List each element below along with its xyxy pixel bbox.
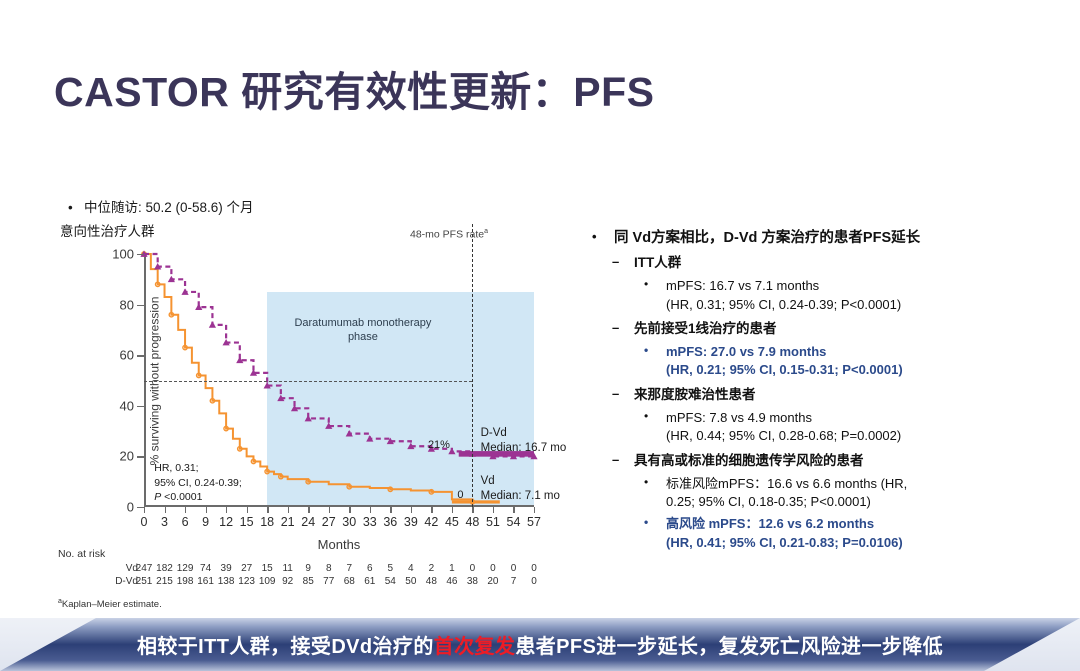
y-axis-tick	[137, 456, 144, 457]
risk-table-cell: 161	[197, 576, 214, 587]
subgroup-result: •高风险 mPFS：12.6 vs 6.2 months(HR, 0.41; 9…	[588, 515, 1076, 552]
x-axis-tick	[165, 507, 166, 513]
bottom-banner: 相较于ITT人群，接受DVd治疗的首次复发患者PFS进一步延长，复发死亡风险进一…	[0, 618, 1080, 671]
risk-table-cell: 0	[490, 563, 496, 574]
risk-table-cell: 74	[200, 563, 211, 574]
bullet-marker-icon: •	[644, 342, 648, 359]
hr-p-value: <0.0001	[161, 491, 202, 503]
bullet-marker-icon: •	[592, 228, 597, 246]
monotherapy-label-line1: Daratumumab monotherapy	[294, 317, 431, 329]
x-axis-tick	[370, 507, 371, 513]
bullet-marker-icon: •	[644, 474, 648, 491]
result-line2: (HR, 0.21; 95% CI, 0.15-0.31; P<0.0001)	[666, 362, 903, 377]
population-label: 意向性治疗人群	[60, 220, 155, 240]
result-line2: (HR, 0.44; 95% CI, 0.28-0.68; P=0.0002)	[666, 428, 901, 443]
x-axis-tick-label: 36	[383, 515, 397, 529]
risk-table-cell: 251	[136, 576, 153, 587]
risk-table-cell: 0	[531, 576, 537, 587]
km-plot-area: % surviving without progression Months 0…	[144, 254, 534, 507]
x-axis-tick-label: 45	[445, 515, 459, 529]
x-axis-tick	[472, 507, 473, 513]
km-marker-dvd	[305, 415, 312, 421]
reference-line-median	[144, 381, 472, 382]
result-line2: (HR, 0.41; 95% CI, 0.21-0.83; P=0.0106)	[666, 535, 903, 550]
risk-table-cell: 109	[259, 576, 276, 587]
vd-48mo-rate: 0	[457, 489, 463, 501]
x-axis-tick	[534, 507, 535, 513]
y-axis-tick	[137, 254, 144, 255]
x-axis-tick-label: 54	[507, 515, 521, 529]
monotherapy-phase-label: Daratumumab monotherapyphase	[294, 317, 431, 345]
km-footnote: aKaplan–Meier estimate.	[58, 598, 162, 610]
km-marker-dvd	[195, 304, 202, 310]
risk-table-cell: 92	[282, 576, 293, 587]
risk-table-cell: 54	[385, 576, 396, 587]
subgroup-label: –来那度胺难治性患者	[588, 386, 1076, 405]
risk-table-cell: 215	[156, 576, 173, 587]
x-axis-tick-label: 24	[301, 515, 315, 529]
x-axis-tick-label: 12	[219, 515, 233, 529]
risk-table-cell: 7	[511, 576, 517, 587]
dash-marker-icon: –	[612, 451, 619, 469]
result-line1: 标准风险mPFS：16.6 vs 6.6 months (HR,	[666, 476, 907, 491]
risk-table-cell: 6	[367, 563, 373, 574]
x-axis-tick	[349, 507, 350, 513]
risk-table-cell: 5	[388, 563, 394, 574]
monotherapy-label-line2: phase	[348, 331, 378, 343]
result-line2: (HR, 0.31; 95% CI, 0.24-0.39; P<0.0001)	[666, 297, 901, 312]
dash-marker-icon: –	[612, 253, 619, 271]
risk-table-row: D-Vd251215198161138123109928577686154504…	[52, 576, 562, 589]
hr-line1: HR, 0.31;	[154, 462, 198, 474]
risk-table-title: No. at risk	[58, 548, 105, 560]
km-marker-dvd	[181, 288, 188, 294]
risk-table-cell: 8	[326, 563, 332, 574]
x-axis-tick-label: 51	[486, 515, 500, 529]
y-axis-tick-label: 80	[120, 297, 134, 312]
banner-text: 相较于ITT人群，接受DVd治疗的首次复发患者PFS进一步延长，复发死亡风险进一…	[0, 618, 1080, 671]
risk-table-cell: 0	[531, 563, 537, 574]
risk-table-row: Vd2471821297439271511987654210000	[52, 563, 562, 576]
km-footnote-text: Kaplan–Meier estimate.	[62, 599, 162, 610]
result-line1: mPFS: 27.0 vs 7.9 months	[666, 344, 826, 359]
dvd-label-name: D-Vd	[481, 427, 507, 439]
vd-curve-label: VdMedian: 7.1 mo	[481, 474, 560, 504]
subgroup-label-text: 来那度胺难治性患者	[634, 387, 756, 402]
x-axis-tick	[390, 507, 391, 513]
y-axis-tick-label: 60	[120, 348, 134, 363]
x-axis-tick	[411, 507, 412, 513]
subgroup-result: •mPFS: 7.8 vs 4.9 months(HR, 0.44; 95% C…	[588, 409, 1076, 446]
x-axis-tick-label: 30	[342, 515, 356, 529]
x-axis-tick-label: 57	[527, 515, 541, 529]
x-axis-tick-label: 9	[202, 515, 209, 529]
banner-text-highlight: 首次复发	[434, 630, 516, 659]
chart-panel: •中位随访: 50.2 (0-58.6) 个月 意向性治疗人群 48-mo PF…	[52, 196, 562, 611]
dvd-curve-label: D-VdMedian: 16.7 mo	[481, 426, 567, 456]
x-axis-tick	[185, 507, 186, 513]
y-axis-tick	[137, 507, 144, 508]
x-axis-tick-label: 33	[363, 515, 377, 529]
risk-table-cell: 85	[303, 576, 314, 587]
x-axis-tick	[267, 507, 268, 513]
x-axis-tick-label: 48	[465, 515, 479, 529]
x-axis-tick	[247, 507, 248, 513]
result-line2: 0.25; 95% CI, 0.18-0.35; P<0.0001)	[666, 494, 871, 509]
risk-table-cell: 9	[305, 563, 311, 574]
dvd-48mo-rate: 21%	[428, 439, 450, 451]
footnote-marker: a	[484, 228, 488, 235]
y-axis-tick-label: 100	[112, 247, 134, 262]
y-axis-tick	[137, 406, 144, 407]
bullet-marker-icon: •	[644, 514, 648, 531]
dash-marker-icon: –	[612, 319, 619, 337]
pfs-rate-annotation: 48-mo PFS ratea	[410, 228, 488, 241]
page-title: CASTOR 研究有效性更新：PFS	[54, 58, 655, 118]
dvd-label-median: Median: 16.7 mo	[481, 442, 567, 454]
risk-table-cell: 68	[344, 576, 355, 587]
x-axis-tick	[513, 507, 514, 513]
subgroup-result: •mPFS: 27.0 vs 7.9 months(HR, 0.21; 95% …	[588, 343, 1076, 380]
risk-table-cell: 182	[156, 563, 173, 574]
risk-table-cell: 20	[487, 576, 498, 587]
risk-table-cell: 11	[282, 563, 292, 574]
x-axis-tick-label: 18	[260, 515, 274, 529]
risk-table-cell: 48	[426, 576, 437, 587]
x-axis-tick-label: 0	[141, 515, 148, 529]
risk-table-cell: 247	[136, 563, 153, 574]
subgroup-label-text: 先前接受1线治疗的患者	[634, 321, 777, 336]
findings-heading-text: 同 Vd方案相比，D-Vd 方案治疗的患者PFS延长	[614, 230, 920, 246]
x-axis-tick-label: 6	[182, 515, 189, 529]
risk-table-cell: 61	[364, 576, 375, 587]
risk-table-cell: 4	[408, 563, 414, 574]
km-marker-dvd	[209, 321, 216, 327]
bullet-marker-icon: •	[68, 200, 84, 215]
risk-row-label: Vd	[90, 563, 138, 574]
bullet-marker-icon: •	[644, 408, 648, 425]
banner-text-before: 相较于ITT人群，接受DVd治疗的	[137, 630, 434, 659]
risk-table-cell: 38	[467, 576, 478, 587]
km-curve-d-vd	[144, 254, 534, 456]
x-axis-tick	[226, 507, 227, 513]
vd-label-median: Median: 7.1 mo	[481, 490, 560, 502]
dash-marker-icon: –	[612, 385, 619, 403]
risk-table-cell: 15	[262, 563, 273, 574]
x-axis-tick	[144, 507, 145, 513]
risk-table-cell: 50	[405, 576, 416, 587]
y-axis-tick-label: 40	[120, 398, 134, 413]
result-line1: mPFS: 7.8 vs 4.9 months	[666, 410, 812, 425]
x-axis-tick-label: 3	[161, 515, 168, 529]
findings-list: •同 Vd方案相比，D-Vd 方案治疗的患者PFS延长–ITT人群•mPFS: …	[588, 228, 1076, 552]
y-axis-tick-label: 0	[127, 500, 134, 515]
risk-table-cell: 27	[241, 563, 252, 574]
risk-table-cell: 39	[221, 563, 232, 574]
subgroup-label: –具有高或标准的细胞遗传学风险的患者	[588, 452, 1076, 471]
slide-root: CASTOR 研究有效性更新：PFS •中位随访: 50.2 (0-58.6) …	[0, 0, 1080, 671]
result-line1: 高风险 mPFS：12.6 vs 6.2 months	[666, 516, 874, 531]
x-axis-tick-label: 21	[281, 515, 295, 529]
y-axis-tick-label: 20	[120, 449, 134, 464]
reference-line-48mo	[472, 224, 473, 507]
risk-table-cell: 0	[511, 563, 517, 574]
hr-line2: 95% CI, 0.24-0.39;	[154, 477, 242, 489]
x-axis-tick-label: 42	[424, 515, 438, 529]
x-axis-tick-label: 39	[404, 515, 418, 529]
risk-table-cell: 7	[346, 563, 352, 574]
x-axis-tick-label: 27	[322, 515, 336, 529]
hr-statistics-box: HR, 0.31;95% CI, 0.24-0.39;P <0.0001	[154, 461, 242, 504]
subgroup-result: •mPFS: 16.7 vs 7.1 months(HR, 0.31; 95% …	[588, 277, 1076, 314]
risk-table-cell: 2	[429, 563, 435, 574]
vd-48mo-rate-text: 0	[457, 489, 463, 501]
risk-table-cell: 198	[177, 576, 194, 587]
x-axis-tick	[452, 507, 453, 513]
x-axis-tick	[329, 507, 330, 513]
median-followup-text: 中位随访: 50.2 (0-58.6) 个月	[84, 200, 254, 215]
risk-table-cell: 1	[449, 563, 455, 574]
x-axis-tick	[206, 507, 207, 513]
bullet-marker-icon: •	[644, 276, 648, 293]
risk-table-cell: 46	[446, 576, 457, 587]
y-axis-tick	[137, 305, 144, 306]
x-axis-tick	[493, 507, 494, 513]
subgroup-label: –ITT人群	[588, 254, 1076, 273]
risk-row-label: D-Vd	[90, 576, 138, 587]
subgroup-result: •标准风险mPFS：16.6 vs 6.6 months (HR,0.25; 9…	[588, 475, 1076, 512]
x-axis-tick	[431, 507, 432, 513]
y-axis-tick	[137, 355, 144, 356]
subgroup-label-text: 具有高或标准的细胞遗传学风险的患者	[634, 453, 864, 468]
risk-table-cell: 129	[177, 563, 194, 574]
risk-table-cell: 123	[238, 576, 255, 587]
risk-table-cell: 138	[218, 576, 235, 587]
subgroup-label-text: ITT人群	[634, 255, 681, 270]
x-axis-label: Months	[318, 537, 361, 552]
x-axis-tick	[308, 507, 309, 513]
dvd-48mo-rate-text: 21%	[428, 439, 450, 451]
risk-table-cell: 77	[323, 576, 334, 587]
x-axis-tick	[288, 507, 289, 513]
findings-heading: •同 Vd方案相比，D-Vd 方案治疗的患者PFS延长	[588, 228, 1076, 248]
subgroup-label: –先前接受1线治疗的患者	[588, 320, 1076, 339]
x-axis-tick-label: 15	[240, 515, 254, 529]
banner-text-after: 患者PFS进一步延长，复发死亡风险进一步降低	[515, 630, 943, 659]
vd-label-name: Vd	[481, 475, 495, 487]
median-followup-line: •中位随访: 50.2 (0-58.6) 个月	[68, 196, 254, 216]
result-line1: mPFS: 16.7 vs 7.1 months	[666, 278, 819, 293]
risk-table-cell: 0	[470, 563, 476, 574]
